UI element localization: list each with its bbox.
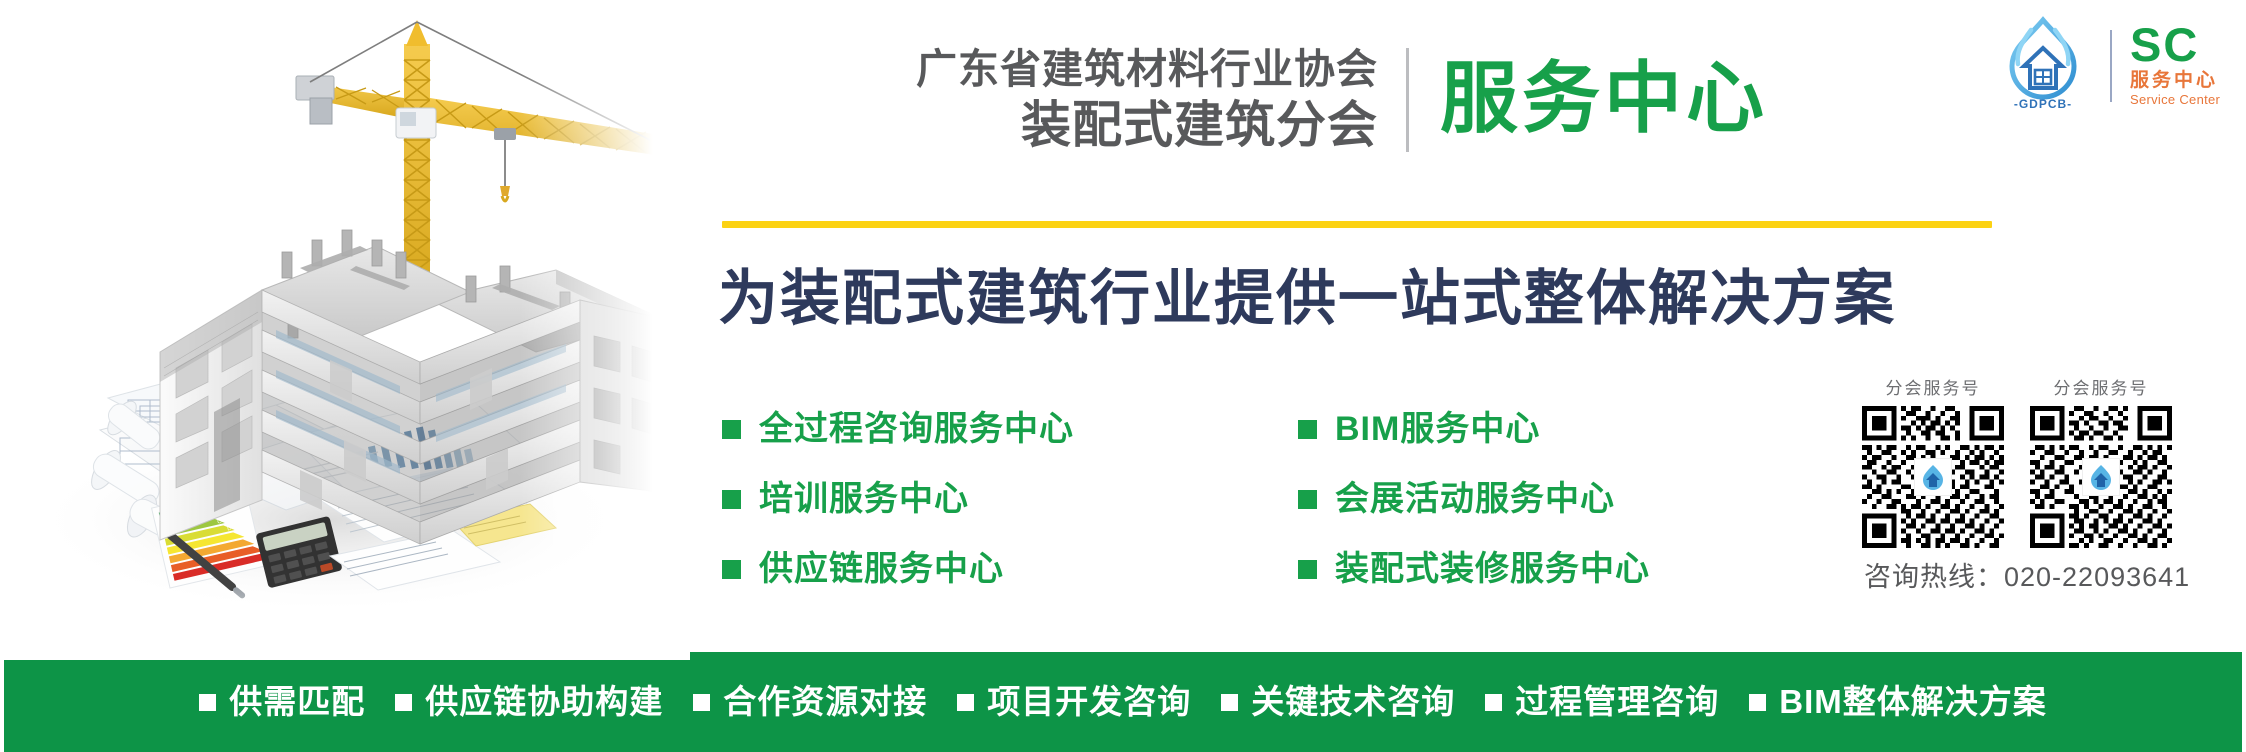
service-list-right: BIM服务中心 会展活动服务中心 装配式装修服务中心	[1298, 406, 1650, 616]
qr-cell-left: 分会服务号	[1862, 378, 2004, 548]
square-bullet-icon	[722, 420, 741, 439]
service-center-title: 服务中心	[1440, 46, 1768, 150]
qr-center-logo-icon	[2082, 458, 2120, 496]
qr-cell-right: 分会服务号	[2030, 378, 2172, 548]
association-name: 广东省建筑材料行业协会 装配式建筑分会	[818, 46, 1378, 153]
footer-item[interactable]: 项目开发咨询	[957, 683, 1191, 721]
photo-left-fade	[0, 0, 90, 660]
service-item-label: 会展活动服务中心	[1335, 479, 1615, 519]
footer-item[interactable]: 关键技术咨询	[1221, 683, 1455, 721]
footer-item-label: 合作资源对接	[723, 683, 927, 721]
qr-section: 分会服务号	[1862, 378, 2202, 594]
service-item[interactable]: 装配式装修服务中心	[1298, 546, 1650, 592]
service-list-left: 全过程咨询服务中心 培训服务中心 供应链服务中心	[722, 406, 1074, 616]
sc-chinese-label: 服务中心	[2130, 70, 2238, 92]
service-item[interactable]: 培训服务中心	[722, 476, 1074, 522]
construction-photo: AB CD	[0, 0, 690, 660]
qr-code-right[interactable]	[2030, 406, 2172, 548]
sc-logo: -GDPCB- SC 服务中心 Service Center	[1988, 14, 2236, 114]
footer-item[interactable]: 供应链协助构建	[395, 683, 663, 721]
square-bullet-icon	[722, 560, 741, 579]
square-bullet-icon	[395, 694, 412, 711]
photo-bottom-fade	[0, 590, 690, 660]
service-item[interactable]: BIM服务中心	[1298, 406, 1650, 452]
qr-caption-right: 分会服务号	[2030, 378, 2172, 400]
qr-caption-left: 分会服务号	[1862, 378, 2004, 400]
footer-items: 供需匹配 供应链协助构建 合作资源对接 项目开发咨询 关键技术咨询 过程管理咨询	[199, 683, 2047, 721]
footer-item-label: 过程管理咨询	[1515, 683, 1719, 721]
service-item-label: 培训服务中心	[759, 479, 969, 519]
qr-row: 分会服务号	[1862, 378, 2202, 548]
logo-separator	[2110, 30, 2112, 102]
qr-center-logo-icon	[1914, 458, 1952, 496]
hotline-text: 咨询热线：020-22093641	[1862, 560, 2202, 594]
square-bullet-icon	[1298, 420, 1317, 439]
service-item-label: 供应链服务中心	[759, 549, 1004, 589]
square-bullet-icon	[1221, 694, 1238, 711]
square-bullet-icon	[1298, 490, 1317, 509]
banner-root: AB CD	[0, 0, 2246, 752]
service-item[interactable]: 供应链服务中心	[722, 546, 1074, 592]
square-bullet-icon	[957, 694, 974, 711]
gdpcb-label: -GDPCB-	[1988, 97, 2098, 111]
footer-bar: 供需匹配 供应链协助构建 合作资源对接 项目开发咨询 关键技术咨询 过程管理咨询	[4, 652, 2242, 752]
footer-item-label: 供需匹配	[229, 683, 365, 721]
footer-item-label: 项目开发咨询	[987, 683, 1191, 721]
footer-item[interactable]: 过程管理咨询	[1485, 683, 1719, 721]
qr-code-left[interactable]	[1862, 406, 2004, 548]
footer-item-label: BIM整体解决方案	[1779, 683, 2047, 721]
footer-item-label: 供应链协助构建	[425, 683, 663, 721]
photo-right-fade	[520, 0, 690, 660]
sc-initials: SC	[2130, 20, 2238, 70]
footer-item[interactable]: 供需匹配	[199, 683, 365, 721]
square-bullet-icon	[1298, 560, 1317, 579]
title-divider	[1406, 48, 1409, 152]
square-bullet-icon	[693, 694, 710, 711]
square-bullet-icon	[1749, 694, 1766, 711]
service-item-label: BIM服务中心	[1335, 409, 1540, 449]
service-item[interactable]: 全过程咨询服务中心	[722, 406, 1074, 452]
footer-item[interactable]: 合作资源对接	[693, 683, 927, 721]
association-name-line1: 广东省建筑材料行业协会	[818, 46, 1378, 93]
footer-item-label: 关键技术咨询	[1251, 683, 1455, 721]
association-name-line2: 装配式建筑分会	[818, 97, 1378, 153]
headline-slogan: 为装配式建筑行业提供一站式整体解决方案	[718, 262, 2008, 336]
sc-english-label: Service Center	[2130, 92, 2238, 108]
footer-item[interactable]: BIM整体解决方案	[1749, 683, 2047, 721]
square-bullet-icon	[1485, 694, 1502, 711]
service-item-label: 全过程咨询服务中心	[759, 409, 1074, 449]
service-item-label: 装配式装修服务中心	[1335, 549, 1650, 589]
sc-logo-text: SC 服务中心 Service Center	[2130, 20, 2238, 108]
square-bullet-icon	[722, 490, 741, 509]
square-bullet-icon	[199, 694, 216, 711]
gold-divider-rule	[722, 221, 1992, 228]
service-item[interactable]: 会展活动服务中心	[1298, 476, 1650, 522]
